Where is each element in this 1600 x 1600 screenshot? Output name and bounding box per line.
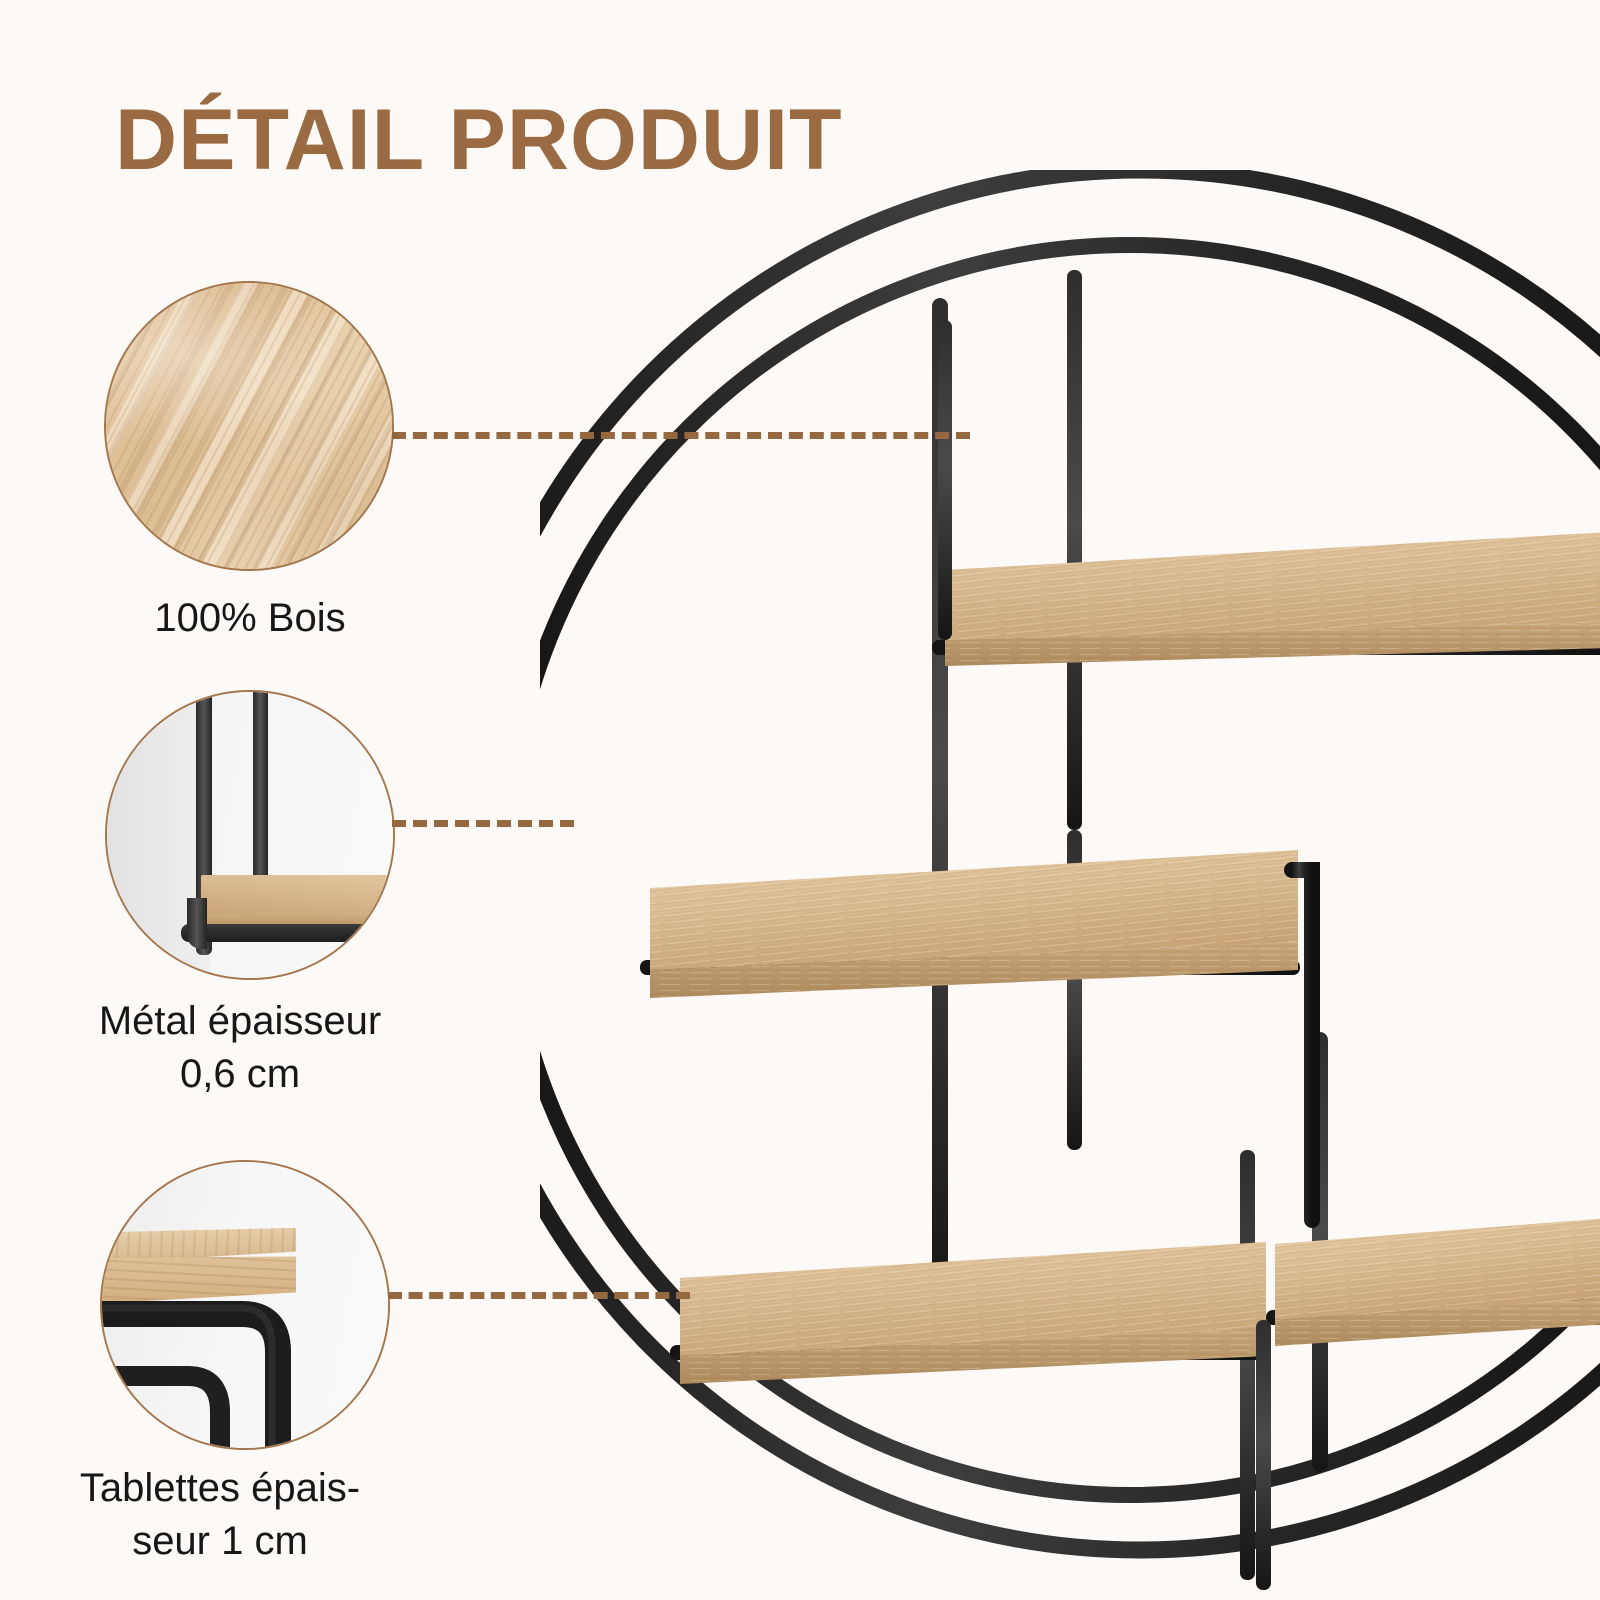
product-photo	[540, 170, 1600, 1600]
connector-line-wood	[392, 432, 970, 439]
callout-label-shelf-line1: Tablettes épais-	[0, 1462, 440, 1515]
infographic-canvas: DÉTAIL PRODUIT	[0, 0, 1600, 1600]
connector-line-metal	[392, 820, 574, 827]
callout-label-wood: 100% Bois	[60, 592, 440, 645]
metal-frame-closeup-icon	[105, 690, 395, 980]
connector-line-shelf	[388, 1292, 690, 1299]
shelf-edge-closeup-icon	[100, 1160, 390, 1450]
callout-label-metal-line1: Métal épaisseur	[20, 995, 460, 1048]
callout-label-metal-line2: 0,6 cm	[20, 1048, 460, 1101]
callout-label-shelf-line2: seur 1 cm	[0, 1515, 440, 1568]
wood-grain-swatch-icon	[104, 281, 394, 571]
